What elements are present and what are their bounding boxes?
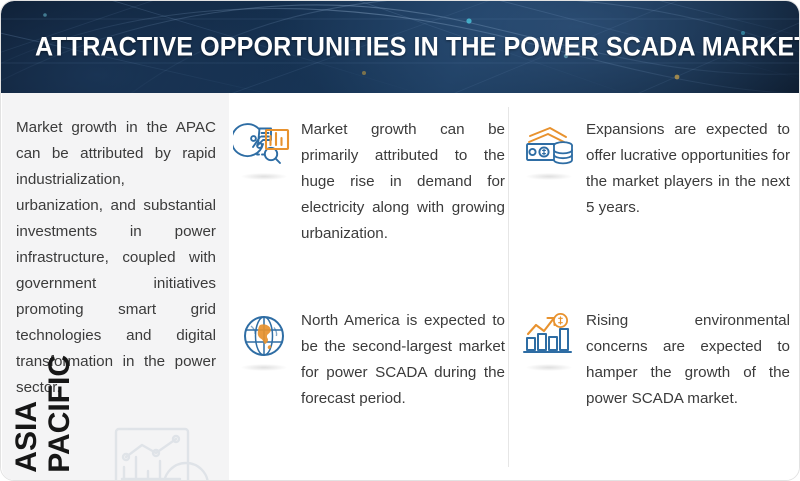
insight-card-expansions: Expansions are expected to offer lucrati… xyxy=(518,115,790,221)
report-chart-percent-magnifier-icon xyxy=(233,116,295,178)
insight-card-north-america: North America is expected to be the seco… xyxy=(233,306,505,412)
infographic-frame: ATTRACTIVE OPPORTUNITIES IN THE POWER SC… xyxy=(0,0,800,481)
insight-card-market-growth: Market growth can be primarily attribute… xyxy=(233,115,505,247)
icon-shadow xyxy=(241,364,287,371)
insight-card-text: Expansions are expected to offer lucrati… xyxy=(586,115,790,221)
region-label: ASIA PACIFIC xyxy=(12,323,75,473)
insight-card-text: Market growth can be primarily attribute… xyxy=(301,115,505,247)
region-label-word-2: PACIFIC xyxy=(45,355,75,473)
header-banner: ATTRACTIVE OPPORTUNITIES IN THE POWER SC… xyxy=(1,1,800,93)
insight-card-environmental-concerns: Rising environmental concerns are expect… xyxy=(518,306,790,412)
icon-shadow xyxy=(241,173,287,180)
bar-chart-growth-dollar-icon xyxy=(518,307,580,369)
insight-card-text: Rising environmental concerns are expect… xyxy=(586,306,790,412)
insight-card-text: North America is expected to be the seco… xyxy=(301,306,505,412)
insight-cards-grid: Market growth can be primarily attribute… xyxy=(229,93,800,481)
page-title-text: ATTRACTIVE OPPORTUNITIES IN THE POWER SC… xyxy=(35,32,800,63)
icon-shadow xyxy=(526,364,572,371)
content-area: Market growth in the APAC can be attribu… xyxy=(1,93,800,481)
globe-icon xyxy=(233,307,295,369)
region-highlight-panel: Market growth in the APAC can be attribu… xyxy=(2,93,229,481)
icon-shadow xyxy=(526,173,572,180)
region-label-word-1: ASIA xyxy=(12,401,42,473)
page-title: ATTRACTIVE OPPORTUNITIES IN THE POWER SC… xyxy=(35,32,800,63)
money-banknote-coins-icon xyxy=(518,116,580,178)
cards-column-divider xyxy=(508,107,509,467)
presentation-chart-magnifier-watermark-icon xyxy=(98,423,229,481)
